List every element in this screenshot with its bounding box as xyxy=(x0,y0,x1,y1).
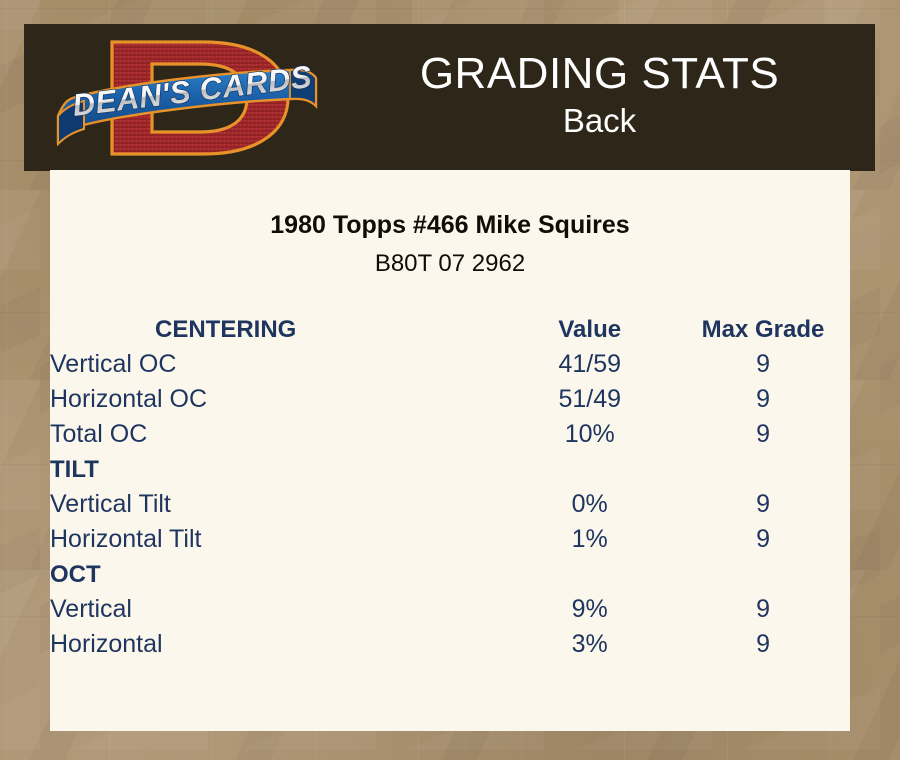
row-label: Vertical OC xyxy=(50,347,503,382)
row-grade: 9 xyxy=(676,382,850,417)
row-value: 9% xyxy=(503,592,676,627)
stats-table-body: CENTERING Value Max Grade Vertical OC 41… xyxy=(50,312,850,662)
section-header-row: TILT xyxy=(50,452,850,487)
row-label: Vertical Tilt xyxy=(50,487,503,522)
row-value: 3% xyxy=(503,627,676,662)
stats-panel: 1980 Topps #466 Mike Squires B80T 07 296… xyxy=(50,170,850,731)
column-header-value: Value xyxy=(503,312,676,347)
row-grade: 9 xyxy=(676,522,850,557)
row-label: Vertical xyxy=(50,592,503,627)
row-label: Horizontal OC xyxy=(50,382,503,417)
card-name: 1980 Topps #466 Mike Squires xyxy=(50,211,850,240)
table-row: Vertical 9% 9 xyxy=(50,592,850,627)
section-header-tilt: TILT xyxy=(50,452,503,487)
row-grade: 9 xyxy=(676,627,850,662)
section-header-row: OCT xyxy=(50,557,850,592)
row-value: 1% xyxy=(503,522,676,557)
page-subtitle: Back xyxy=(563,99,636,144)
row-value: 41/59 xyxy=(503,347,676,382)
row-grade: 9 xyxy=(676,592,850,627)
section-spacer-value xyxy=(503,452,676,487)
section-header-oct: OCT xyxy=(50,557,503,592)
column-header-max-grade: Max Grade xyxy=(676,312,850,347)
row-value: 10% xyxy=(503,417,676,452)
section-spacer-grade xyxy=(676,557,850,592)
row-grade: 9 xyxy=(676,347,850,382)
row-label: Horizontal xyxy=(50,627,503,662)
row-value: 51/49 xyxy=(503,382,676,417)
card-id: B80T 07 2962 xyxy=(50,250,850,278)
row-label: Total OC xyxy=(50,417,503,452)
section-header-centering: CENTERING xyxy=(50,312,503,347)
page-title: GRADING STATS xyxy=(420,51,779,97)
table-row: Vertical OC 41/59 9 xyxy=(50,347,850,382)
section-spacer-grade xyxy=(676,452,850,487)
section-spacer-value xyxy=(503,557,676,592)
table-header-row: CENTERING Value Max Grade xyxy=(50,312,850,347)
table-row: Horizontal OC 51/49 9 xyxy=(50,382,850,417)
table-row: Horizontal 3% 9 xyxy=(50,627,850,662)
deans-cards-logo: DEAN'S CARDS xyxy=(54,28,324,168)
row-value: 0% xyxy=(503,487,676,522)
row-grade: 9 xyxy=(676,487,850,522)
table-row: Total OC 10% 9 xyxy=(50,417,850,452)
header-bar: DEAN'S CARDS GRADING STATS Back xyxy=(24,24,875,171)
table-row: Horizontal Tilt 1% 9 xyxy=(50,522,850,557)
grading-stats-table: CENTERING Value Max Grade Vertical OC 41… xyxy=(50,312,850,662)
row-label: Horizontal Tilt xyxy=(50,522,503,557)
row-grade: 9 xyxy=(676,417,850,452)
table-row: Vertical Tilt 0% 9 xyxy=(50,487,850,522)
